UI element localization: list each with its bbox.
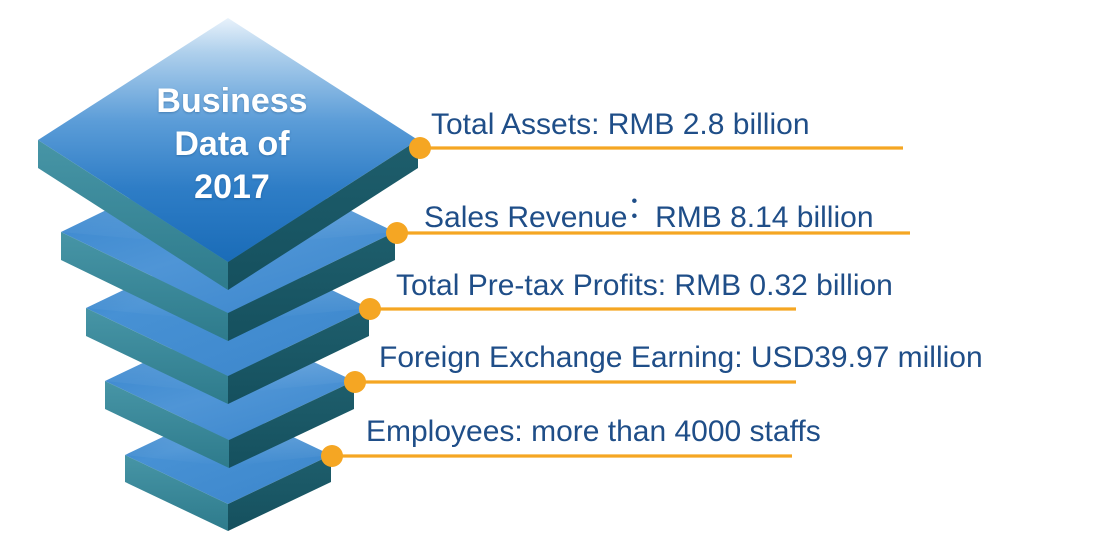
infographic-canvas: Business Data of 2017 Total Assets: RMB … (0, 0, 1117, 560)
callout-dot-2 (386, 222, 408, 244)
callout-dot-1 (409, 137, 431, 159)
callout-label-forex-earning: Foreign Exchange Earning: USD39.97 milli… (379, 341, 983, 375)
callout-label-sales-revenue-value: RMB 8.14 billion (655, 201, 873, 234)
callout-label-total-assets: Total Assets: RMB 2.8 billion (431, 108, 810, 142)
callout-label-sales-revenue: Sales Revenue：RMB 8.14 billion (424, 192, 874, 235)
callout-dot-5 (321, 445, 343, 467)
callout-label-pretax-profits: Total Pre-tax Profits: RMB 0.32 billion (396, 269, 893, 303)
callout-dot-3 (359, 298, 381, 320)
callout-dot-4 (344, 371, 366, 393)
callout-label-employees: Employees: more than 4000 staffs (366, 415, 821, 449)
fullwidth-colon: ： (627, 192, 654, 225)
callout-label-sales-revenue-text: Sales Revenue (424, 201, 627, 234)
